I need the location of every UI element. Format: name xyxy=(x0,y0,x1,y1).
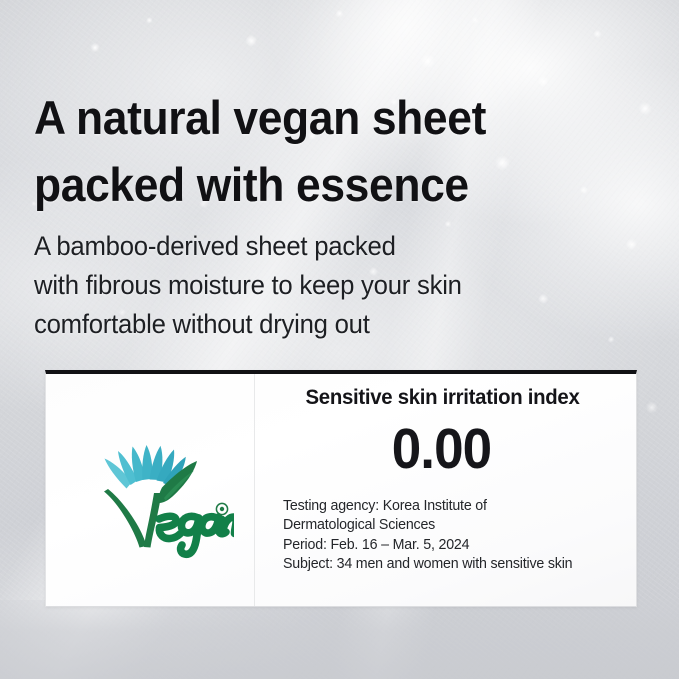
card-logo-panel xyxy=(46,374,255,606)
meta-line-subject: Subject: 34 men and women with sensitive… xyxy=(283,555,572,574)
card-index-panel: Sensitive skin irritation index 0.00 Tes… xyxy=(255,374,636,606)
vegan-logo-icon xyxy=(66,427,234,559)
product-detail-banner: A natural vegan sheet packed with essenc… xyxy=(0,0,679,679)
subtitle-line-2: with fibrous moisture to keep your skin xyxy=(34,266,577,305)
meta-line-testing-agency-cont: Dermatological Sciences xyxy=(283,516,572,535)
vegan-logo-wordmark xyxy=(159,516,234,554)
subtitle-line-1: A bamboo-derived sheet packed xyxy=(34,227,577,266)
subtitle-line-3: comfortable without drying out xyxy=(34,305,577,344)
subtitle: A bamboo-derived sheet packed with fibro… xyxy=(34,227,577,344)
headline-line-1: A natural vegan sheet xyxy=(34,84,601,151)
headline-line-2: packed with essence xyxy=(34,151,601,218)
meta-line-testing-agency: Testing agency: Korea Institute of xyxy=(283,497,572,516)
headline: A natural vegan sheet packed with essenc… xyxy=(34,84,601,218)
registered-trademark-icon xyxy=(216,503,227,514)
meta-line-period: Period: Feb. 16 – Mar. 5, 2024 xyxy=(283,536,572,555)
certification-card: Sensitive skin irritation index 0.00 Tes… xyxy=(45,370,637,607)
index-meta: Testing agency: Korea Institute of Derma… xyxy=(283,497,572,575)
index-value: 0.00 xyxy=(268,418,615,480)
background-bottom-band xyxy=(0,600,679,679)
vegan-logo-stem xyxy=(104,489,147,548)
index-title: Sensitive skin irritation index xyxy=(261,386,625,410)
